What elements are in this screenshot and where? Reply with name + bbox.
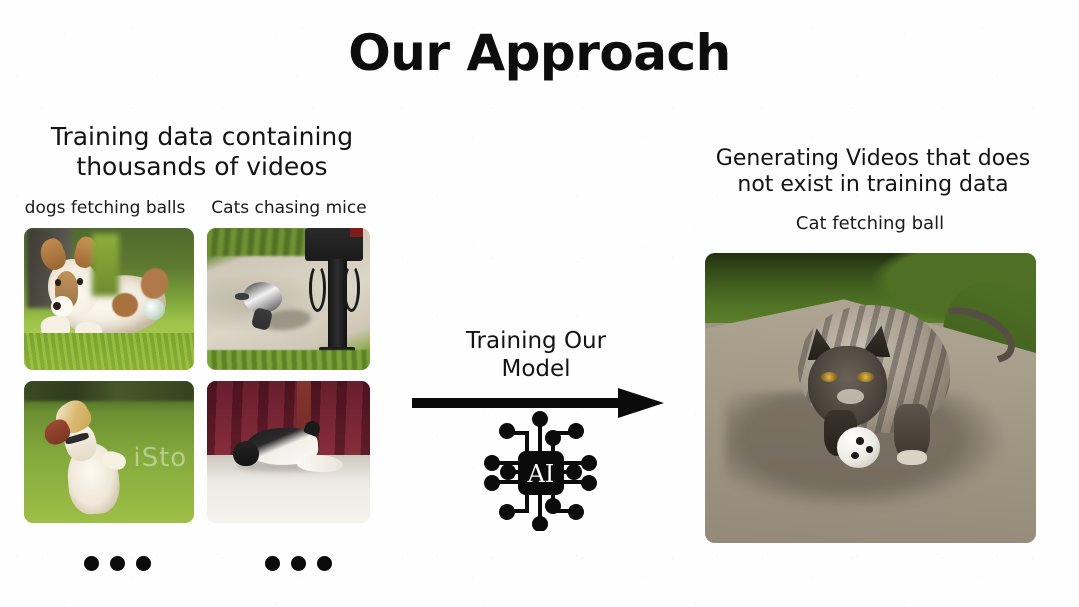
ellipsis-dot <box>265 556 280 571</box>
thumbnail-cat-stretching[interactable] <box>207 381 370 523</box>
ball-hole <box>851 452 859 459</box>
page-title: Our Approach <box>0 26 1079 81</box>
caption-cats-chasing-mice: Cats chasing mice <box>198 198 380 218</box>
ellipsis-dot <box>136 556 151 571</box>
slide-canvas: Our Approach Training data containing th… <box>0 0 1079 607</box>
mailbox-flag-shape <box>350 228 363 237</box>
thumbnail-cat-walking-on-path[interactable] <box>207 228 370 370</box>
caption-cat-fetching-ball: Cat fetching ball <box>700 213 1040 234</box>
ellipsis-dot <box>317 556 332 571</box>
treeline-background <box>24 381 194 401</box>
scene-cat-path <box>207 228 370 370</box>
ball-hole <box>866 446 873 452</box>
ball-shape <box>837 427 880 468</box>
thumbnail-generated-cat-fetching-ball[interactable] <box>705 253 1036 543</box>
more-dogs-ellipsis <box>84 556 151 571</box>
stock-watermark: iSto <box>133 443 187 473</box>
cat-eye-shape <box>857 372 874 382</box>
post-scroll-shape <box>309 264 326 313</box>
training-data-heading: Training data containing thousands of vi… <box>12 122 392 181</box>
thumbnail-dog-running-with-ball[interactable] <box>24 228 194 370</box>
ai-chip-icon: AI <box>483 411 597 531</box>
more-cats-ellipsis <box>265 556 332 571</box>
dog-ball-shape <box>143 299 165 320</box>
ellipsis-dot <box>110 556 125 571</box>
ellipsis-dot <box>291 556 306 571</box>
thumbnail-beagle-jumping[interactable]: iSto <box>24 381 194 523</box>
grass-foreground <box>207 350 370 370</box>
cat-head-shape <box>233 441 259 467</box>
cat-muzzle-shape <box>837 389 863 404</box>
ellipsis-dot <box>84 556 99 571</box>
scene-dog-grass <box>24 228 194 370</box>
training-our-model-label: Training Our Model <box>410 328 662 383</box>
ai-chip-label: AI <box>527 460 555 488</box>
grass-foreground <box>24 333 194 370</box>
scene-beagle-grass: iSto <box>24 381 194 523</box>
scene-cat-indoor <box>207 381 370 523</box>
cat-paw-shape <box>897 450 927 465</box>
generated-videos-heading: Generating Videos that does not exist in… <box>678 146 1068 199</box>
ball-hole <box>856 437 865 445</box>
caption-dogs-fetching-balls: dogs fetching balls <box>14 198 196 218</box>
